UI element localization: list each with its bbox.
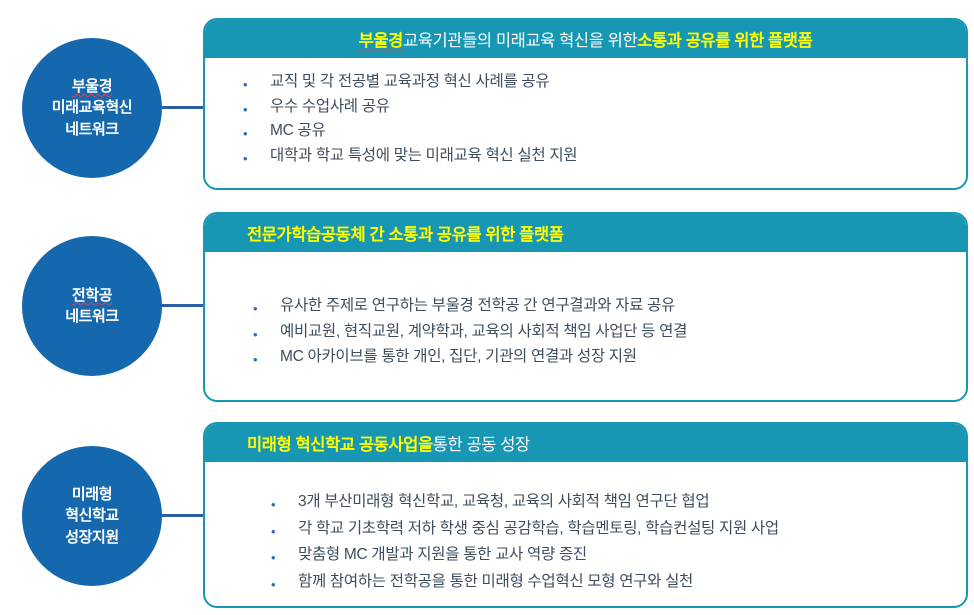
list-item: 유사한 주제로 연구하는 부울경 전학공 간 연구결과와 자료 공유	[205, 298, 966, 314]
card-header-1: 부울경 교육기관들의 미래교육 혁신을 위한 소통과 공유를 위한 플랫폼	[205, 20, 966, 58]
diagram-row-2: 전학공 네트워크 전문가학습공동체 간 소통과 공유를 위한 플랫폼 유사한 주…	[0, 210, 974, 402]
card-body-2: 유사한 주제로 연구하는 부울경 전학공 간 연구결과와 자료 공유 예비교원,…	[205, 252, 966, 365]
list-item: 대학과 학교 특성에 맞는 미래교육 혁신 실천 지원	[205, 148, 966, 164]
list-item: MC 공유	[205, 123, 966, 139]
diagram-row-3: 미래형 혁신학교 성장지원 미래형 혁신학교 공동사업을 통한 공동 성장 3개…	[0, 420, 974, 610]
circle-node-3-line-3: 성장지원	[65, 527, 119, 548]
diagram-row-1: 부울경 미래교육혁신 네트워크 부울경 교육기관들의 미래교육 혁신을 위한 소…	[0, 14, 974, 190]
circle-node-2-line-1: 전학공	[72, 285, 112, 306]
card-body-3: 3개 부산미래형 혁신학교, 교육청, 교육의 사회적 책임 연구단 협업 각 …	[205, 462, 966, 589]
circle-node-1-line-1: 부울경	[72, 76, 112, 97]
list-item: 맞춤형 MC 개발과 지원을 통한 교사 역량 증진	[205, 547, 966, 563]
list-item: 교직 및 각 전공별 교육과정 혁신 사례를 공유	[205, 74, 966, 90]
list-item: 함께 참여하는 전학공을 통한 미래형 수업혁신 모형 연구와 실천	[205, 574, 966, 590]
diagram-canvas: 부울경 미래교육혁신 네트워크 부울경 교육기관들의 미래교육 혁신을 위한 소…	[0, 0, 974, 615]
circle-node-2-line-2: 네트워크	[65, 306, 119, 327]
content-card-3: 미래형 혁신학교 공동사업을 통한 공동 성장 3개 부산미래형 혁신학교, 교…	[203, 422, 968, 608]
content-card-2: 전문가학습공동체 간 소통과 공유를 위한 플랫폼 유사한 주제로 연구하는 부…	[203, 212, 968, 402]
card-header-1-segment-1: 부울경	[359, 27, 403, 51]
card-header-3: 미래형 혁신학교 공동사업을 통한 공동 성장	[205, 424, 966, 462]
circle-node-3-line-2: 혁신학교	[65, 505, 119, 526]
circle-node-2[interactable]: 전학공 네트워크	[22, 236, 162, 376]
circle-node-3[interactable]: 미래형 혁신학교 성장지원	[22, 446, 162, 586]
list-item: 3개 부산미래형 혁신학교, 교육청, 교육의 사회적 책임 연구단 협업	[205, 494, 966, 510]
content-card-1: 부울경 교육기관들의 미래교육 혁신을 위한 소통과 공유를 위한 플랫폼 교직…	[203, 18, 968, 190]
card-header-2-segment-1: 전문가학습공동체 간 소통과 공유를 위한 플랫폼	[247, 221, 564, 245]
circle-node-1-line-2: 미래교육혁신	[52, 97, 132, 118]
card-header-1-segment-2: 교육기관들의 미래교육 혁신을 위한	[403, 27, 637, 51]
card-header-2: 전문가학습공동체 간 소통과 공유를 위한 플랫폼	[205, 214, 966, 252]
card-header-3-segment-1: 미래형 혁신학교 공동사업을	[247, 431, 433, 455]
bullet-list-3: 3개 부산미래형 혁신학교, 교육청, 교육의 사회적 책임 연구단 협업 각 …	[205, 462, 966, 589]
list-item: MC 아카이브를 통한 개인, 집단, 기관의 연결과 성장 지원	[205, 349, 966, 365]
list-item: 각 학교 기초학력 저하 학생 중심 공감학습, 학습멘토링, 학습컨설팅 지원…	[205, 521, 966, 537]
list-item: 우수 수업사례 공유	[205, 99, 966, 115]
card-header-1-segment-3: 소통과 공유를 위한 플랫폼	[637, 27, 812, 51]
card-body-1: 교직 및 각 전공별 교육과정 혁신 사례를 공유 우수 수업사례 공유 MC …	[205, 58, 966, 163]
bullet-list-2: 유사한 주제로 연구하는 부울경 전학공 간 연구결과와 자료 공유 예비교원,…	[205, 252, 966, 365]
bullet-list-1: 교직 및 각 전공별 교육과정 혁신 사례를 공유 우수 수업사례 공유 MC …	[205, 58, 966, 163]
card-header-3-segment-2: 통한 공동 성장	[433, 431, 530, 455]
circle-node-3-line-1: 미래형	[72, 484, 112, 505]
circle-node-1-line-3: 네트워크	[65, 119, 119, 140]
circle-node-1[interactable]: 부울경 미래교육혁신 네트워크	[22, 38, 162, 178]
list-item: 예비교원, 현직교원, 계약학과, 교육의 사회적 책임 사업단 등 연결	[205, 324, 966, 340]
